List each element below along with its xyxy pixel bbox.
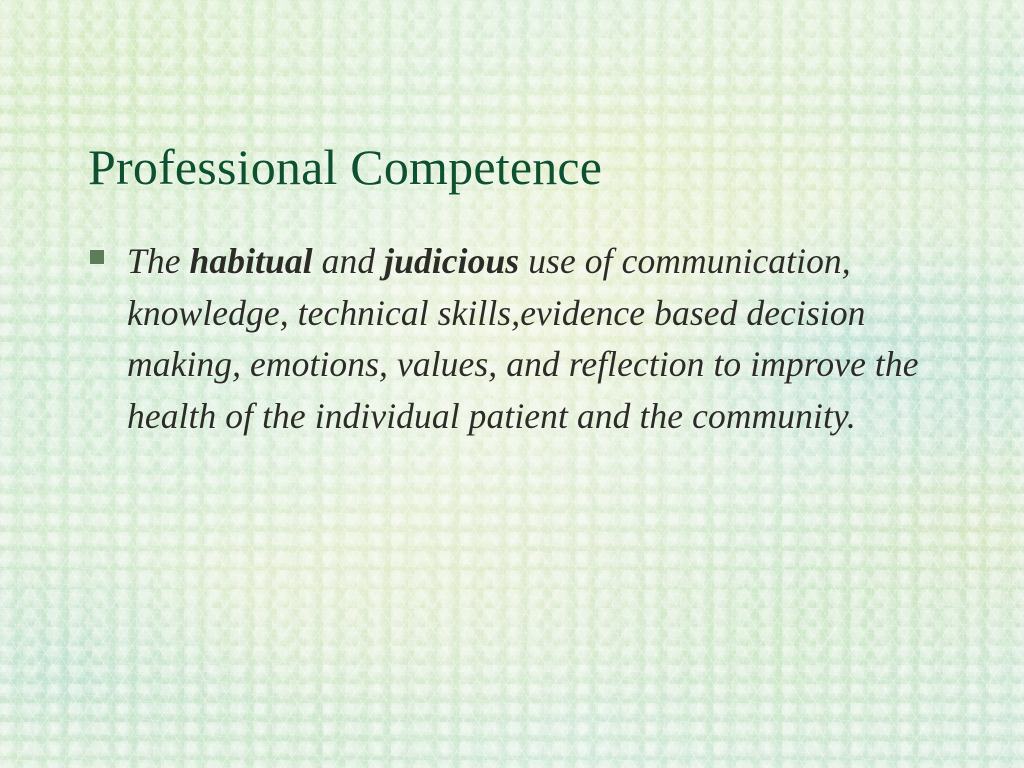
list-item-text: The habitual and judicious use of commun… [127, 236, 960, 442]
emphasis-term: habitual [190, 241, 313, 281]
presentation-slide: Professional Competence The habitual and… [0, 0, 1024, 768]
square-bullet-icon [90, 250, 104, 264]
page-title: Professional Competence [88, 138, 948, 196]
text-run: The [127, 241, 190, 281]
slide-body: The habitual and judicious use of commun… [88, 236, 960, 442]
text-run: and [313, 241, 385, 281]
slide-content: Professional Competence The habitual and… [0, 0, 1024, 768]
list-item: The habitual and judicious use of commun… [88, 236, 960, 442]
emphasis-term: judicious [384, 241, 519, 281]
